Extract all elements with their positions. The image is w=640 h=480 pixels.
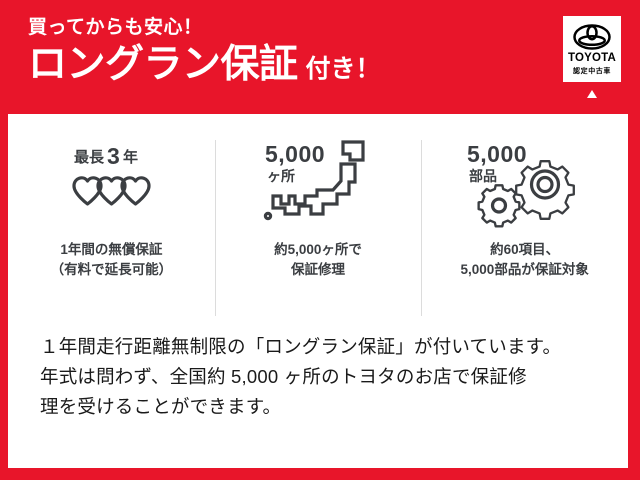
toyota-red-swoosh-icon [563,81,621,98]
badge-suffix-text: 年 [123,148,138,166]
feature-columns: 最長 3 年 1年間の無償保証 （有料で延長可能） [8,132,628,322]
content-card: 最長 3 年 1年間の無償保証 （有料で延長可能） [8,114,628,468]
feature-icon-wrap: 5,000 部品 [461,132,589,236]
body-copy-line: 年式は問わず、全国約 5,000 ヶ所のトヨタのお店で保証修 [40,362,600,392]
body-copy-line: 理を受けることができます。 [40,392,600,422]
feature-covered-parts: 5,000 部品 [421,132,628,322]
badge-number-text: 5,000 [265,141,325,167]
feature-caption: 1年間の無償保証 （有料で延長可能） [51,240,173,279]
headline-kicker: 買ってからも安心！ [28,18,381,37]
two-gears-icon: 5,000 部品 [461,136,589,232]
header-banner: 買ってからも安心！ ロングラン保証 付き！ TOYOTA 認定中古車 [0,0,640,112]
feature-icon-wrap: 最長 3 年 [52,132,170,236]
toyota-wordmark: TOYOTA [568,53,616,65]
badge-unit-text: 部品 [469,168,497,184]
toyota-certified-used-car-logo: TOYOTA 認定中古車 [561,14,623,100]
caption-line: （有料で延長可能） [51,260,173,280]
feature-icon-wrap: 5,000 ヶ所 [259,132,377,236]
headline-title-suffix: 付き！ [306,57,381,82]
caption-line: 約5,000ヶ所で [274,240,362,260]
body-copy: １年間走行距離無制限の「ロングラン保証」が付いています。 年式は問わず、全国約 … [40,332,600,422]
caption-line: 5,000部品が保証対象 [461,260,589,280]
body-copy-line: １年間走行距離無制限の「ロングラン保証」が付いています。 [40,332,600,362]
caption-line: 1年間の無償保証 [51,240,173,260]
japan-map-icon: 5,000 ヶ所 [259,136,377,232]
longrun-warranty-poster: 買ってからも安心！ ロングラン保証 付き！ TOYOTA 認定中古車 [0,0,640,480]
caption-line: 約60項目、 [461,240,589,260]
feature-caption: 約5,000ヶ所で 保証修理 [274,240,362,279]
feature-warranty-period: 最長 3 年 1年間の無償保証 （有料で延長可能） [8,132,215,322]
toyota-sub-label: 認定中古車 [573,68,611,75]
badge-unit-text: ヶ所 [267,168,295,184]
feature-caption: 約60項目、 5,000部品が保証対象 [461,240,589,279]
headline-block: 買ってからも安心！ ロングラン保証 付き！ [28,18,381,84]
feature-service-locations: 5,000 ヶ所 約5,000ヶ所で 保証修理 [215,132,422,322]
caption-line: 保証修理 [274,260,362,280]
badge-number-text: 5,000 [467,141,527,167]
badge-number-text: 3 [107,143,120,169]
three-hearts-icon: 最長 3 年 [52,142,170,226]
headline-title: ロングラン保証 [28,45,298,84]
toyota-ellipse-mark-icon [573,24,611,50]
badge-prefix-text: 最長 [74,148,105,166]
headline-row: ロングラン保証 付き！ [28,45,381,84]
